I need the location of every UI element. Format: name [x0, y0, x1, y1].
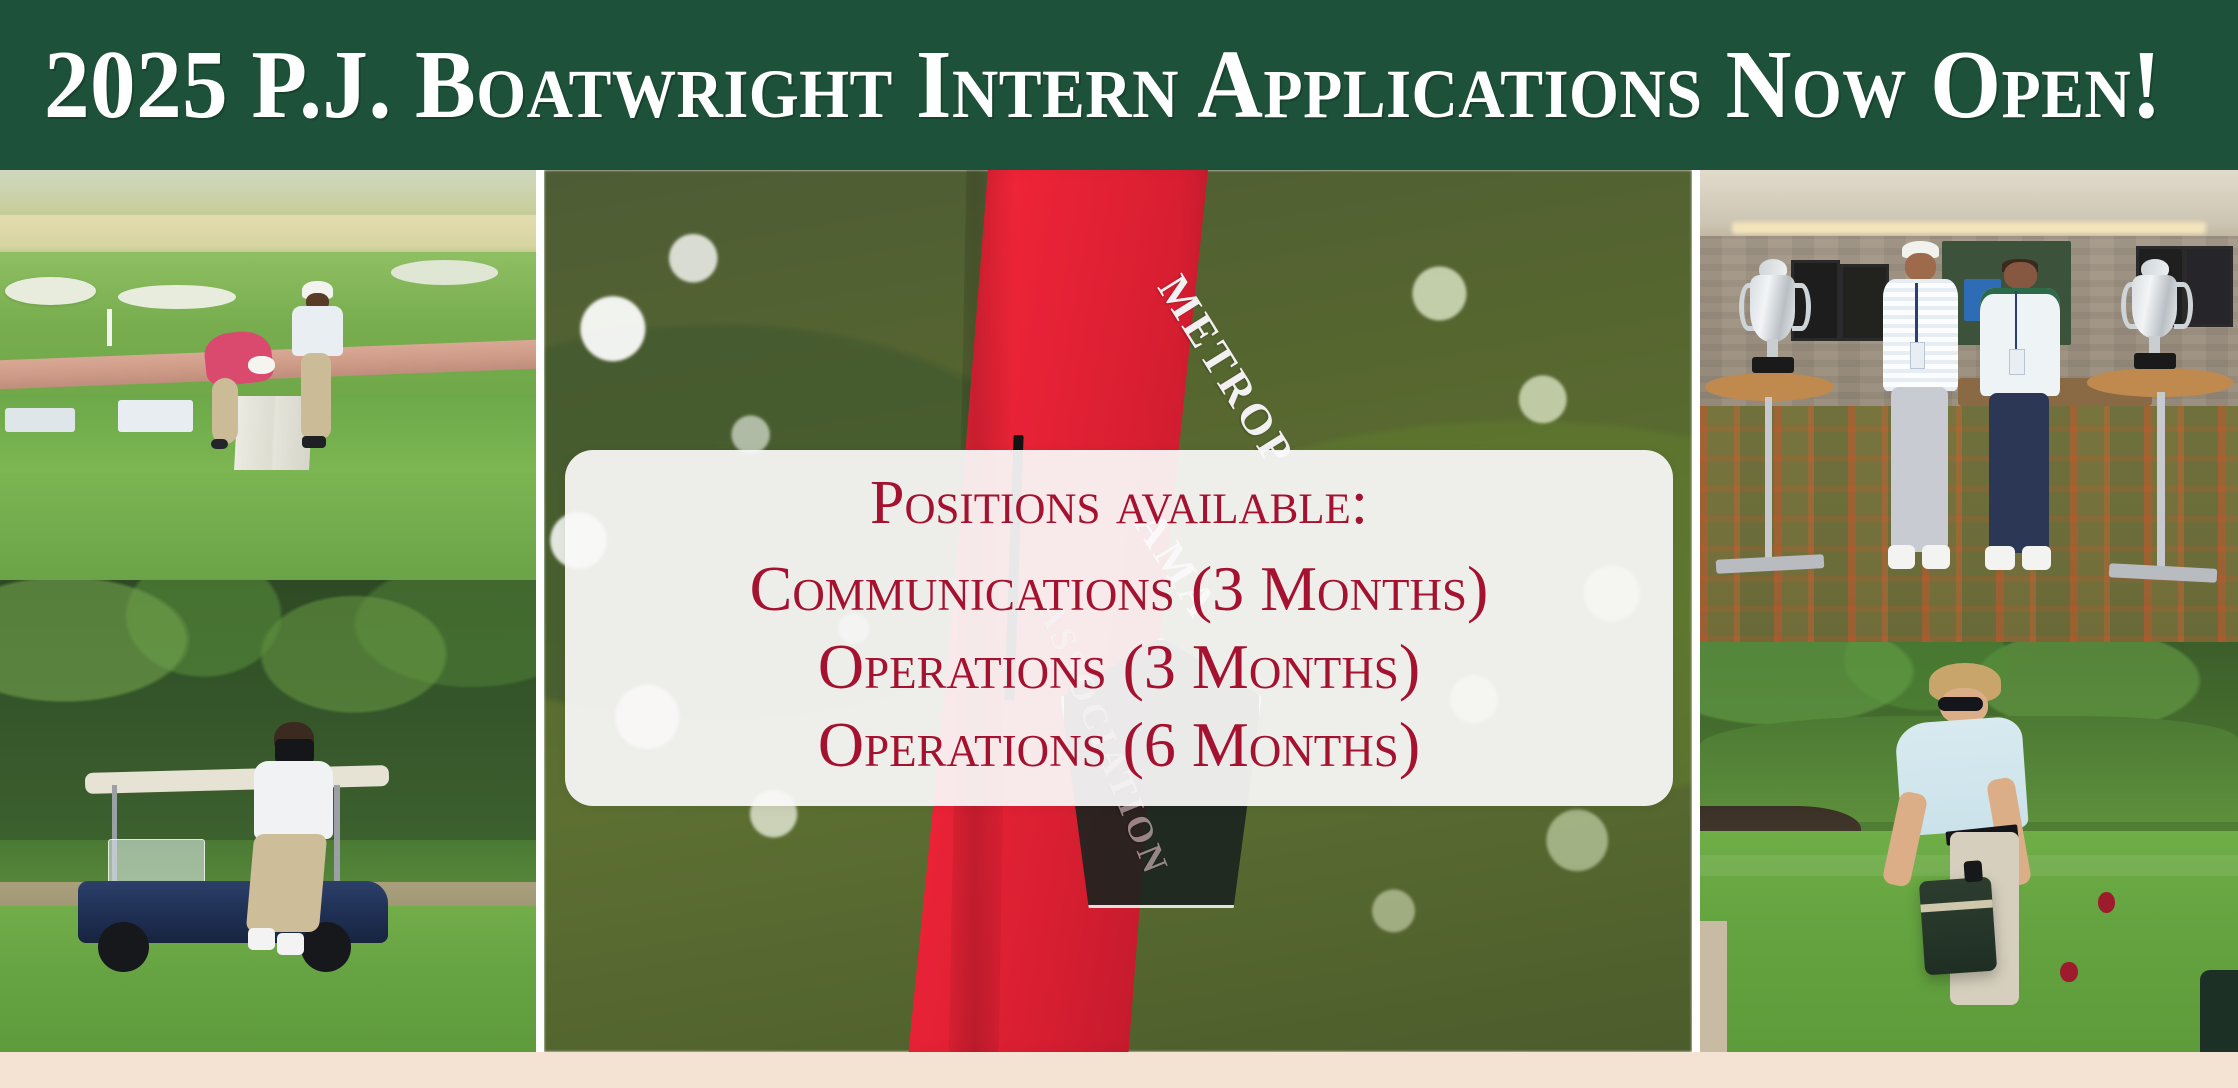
shoe — [2022, 546, 2051, 570]
shoe — [211, 439, 228, 449]
white-cap — [248, 356, 275, 374]
shoe — [277, 933, 304, 955]
positions-heading: Positions available: — [870, 472, 1368, 534]
white-polo — [292, 306, 342, 357]
photographer — [247, 722, 343, 967]
page-title: 2025 P.J. Boatwright Intern Applications… — [44, 36, 2162, 134]
head — [1905, 253, 1936, 281]
khaki-pants — [301, 353, 332, 440]
cart-roof — [84, 765, 388, 794]
navy-pants — [1989, 393, 2049, 553]
khaki-pants — [246, 834, 328, 932]
trophy-cup — [2132, 275, 2177, 339]
golf-cart — [64, 769, 402, 977]
bystander-leg — [1700, 921, 1727, 1052]
light-pants — [1891, 387, 1948, 551]
green-cooler — [1919, 877, 1998, 976]
equipment-bin — [5, 408, 75, 433]
worker-standing — [284, 281, 354, 461]
ceiling — [1700, 170, 2238, 246]
course-stake — [107, 309, 112, 346]
red-tee-marker — [2098, 892, 2115, 913]
head — [2004, 262, 2037, 289]
green-collar-polo — [1980, 288, 2060, 397]
golf-bag-edge — [2200, 970, 2238, 1052]
cooler-handle — [1964, 860, 1983, 882]
header-band: 2025 P.J. Boatwright Intern Applications… — [0, 0, 2238, 170]
khaki-pants — [212, 378, 238, 444]
credential-badge — [2009, 349, 2025, 375]
white-polo — [254, 761, 333, 840]
sand-bunker — [391, 260, 498, 285]
position-item-operations-6: Operations (6 Months) — [818, 713, 1420, 777]
lanyard — [1915, 283, 1918, 349]
red-tee-marker — [2060, 962, 2077, 983]
camera-icon — [275, 739, 314, 764]
poster-root: 2025 P.J. Boatwright Intern Applications… — [0, 0, 2238, 1088]
sand-bunker — [118, 285, 236, 310]
credential-badge — [1910, 342, 1925, 368]
position-item-operations-3: Operations (3 Months) — [818, 635, 1420, 699]
table-leg — [1765, 397, 1773, 567]
shoe — [1888, 545, 1916, 569]
championship-trophy-left — [1738, 255, 1808, 382]
trophy-base — [2134, 353, 2176, 369]
shoe — [302, 436, 326, 449]
interns-trophies-photo — [1700, 170, 2238, 642]
equipment-bin — [118, 400, 193, 433]
shoe — [1985, 546, 2014, 570]
trophy-base — [1752, 357, 1794, 374]
positions-card: Positions available: Communications (3 M… — [565, 450, 1673, 806]
trophy-cup — [1750, 275, 1795, 341]
photographer-cart-photo — [0, 580, 536, 1052]
shoe — [1922, 545, 1950, 569]
striped-polo — [1883, 279, 1959, 391]
intern-right — [1974, 250, 2065, 590]
intern-left — [1878, 241, 1964, 590]
shoe — [248, 928, 275, 950]
intern-cooler-photo — [1700, 642, 2238, 1052]
trophy-handle — [2174, 282, 2193, 329]
course-setup-photo — [0, 170, 536, 580]
bottom-accent-strip — [0, 1052, 2238, 1088]
sunglasses-icon — [1938, 697, 1983, 711]
intern-carrying-cooler — [1878, 663, 2050, 1024]
cove-lighting — [1732, 222, 2205, 234]
arm — [1882, 791, 1928, 888]
cart-wheel — [98, 922, 149, 972]
lanyard — [2015, 291, 2018, 356]
worker-bending — [198, 326, 284, 457]
cooler-band — [1921, 899, 1994, 912]
table-leg — [2157, 392, 2165, 571]
position-item-communications: Communications (3 Months) — [750, 557, 1489, 621]
championship-trophy-right — [2120, 255, 2190, 378]
